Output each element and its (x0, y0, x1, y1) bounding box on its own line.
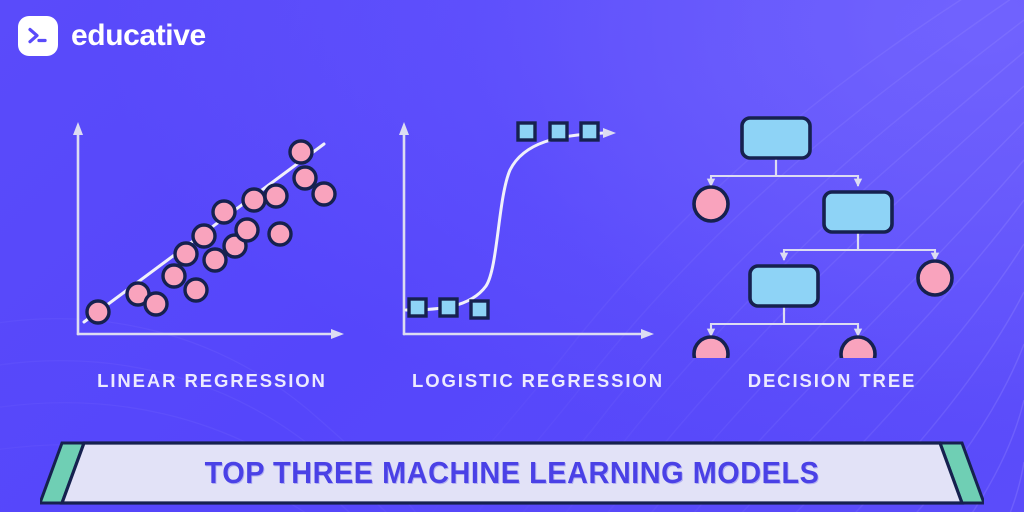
tree-leaf (694, 187, 728, 221)
scatter-point (145, 293, 167, 315)
sigmoid-curve (406, 133, 604, 310)
infographic-canvas: educative (0, 0, 1024, 512)
decision-tree-diagram (672, 108, 992, 363)
x-axis-arrow (641, 329, 654, 339)
scatter-point (163, 265, 185, 287)
scatter-point (236, 219, 258, 241)
tree-edge (776, 158, 858, 186)
data-square (440, 299, 457, 316)
terminal-prompt-icon (18, 16, 58, 56)
tree-node-branch (824, 192, 892, 232)
tree-leaf (918, 261, 952, 295)
data-square (471, 301, 488, 318)
tree-edges (711, 158, 935, 336)
panel-caption-logistic-regression: LOGISTIC REGRESSION (378, 370, 698, 392)
banner-title-text: TOP THREE MACHINE LEARNING MODELS (73, 441, 951, 505)
x-axis-arrow (331, 329, 344, 339)
scatter-point (213, 201, 235, 223)
y-axis-arrow (399, 122, 409, 135)
data-square (581, 123, 598, 140)
title-banner: TOP THREE MACHINE LEARNING MODELS (40, 441, 984, 505)
panel-decision-tree: DECISION TREE (672, 108, 992, 363)
scatter-point (313, 183, 335, 205)
scatter-point (265, 185, 287, 207)
tree-leaf (841, 337, 875, 358)
brand-name: educative (71, 21, 206, 51)
y-axis-arrow (73, 122, 83, 135)
scatter-point (269, 223, 291, 245)
scatter-point (294, 167, 316, 189)
data-square (518, 123, 535, 140)
brand-logo[interactable]: educative (18, 16, 206, 56)
panel-caption-decision-tree: DECISION TREE (672, 370, 992, 392)
scatter-point (243, 189, 265, 211)
panel-caption-linear-regression: LINEAR REGRESSION (52, 370, 372, 392)
linear-regression-chart (52, 108, 372, 363)
tree-edge (711, 158, 776, 186)
data-square (550, 123, 567, 140)
tree-edge (784, 306, 858, 336)
tree-decision-nodes (742, 118, 892, 306)
curve-arrow (603, 128, 616, 138)
scatter-points (87, 141, 335, 323)
tree-leaf (694, 337, 728, 358)
tree-edge (858, 232, 935, 260)
logistic-regression-chart (378, 108, 698, 363)
data-square (409, 299, 426, 316)
scatter-point (204, 249, 226, 271)
scatter-point (290, 141, 312, 163)
tree-node-branch (750, 266, 818, 306)
class-zero-markers (409, 299, 488, 318)
tree-edge (784, 232, 858, 260)
scatter-point (193, 225, 215, 247)
class-one-markers (518, 123, 598, 140)
scatter-point (185, 279, 207, 301)
tree-node-root (742, 118, 810, 158)
panel-logistic-regression: LOGISTIC REGRESSION (378, 108, 698, 363)
tree-edge (711, 306, 784, 336)
panel-linear-regression: LINEAR REGRESSION (52, 108, 372, 363)
scatter-point (175, 243, 197, 265)
scatter-point (87, 301, 109, 323)
